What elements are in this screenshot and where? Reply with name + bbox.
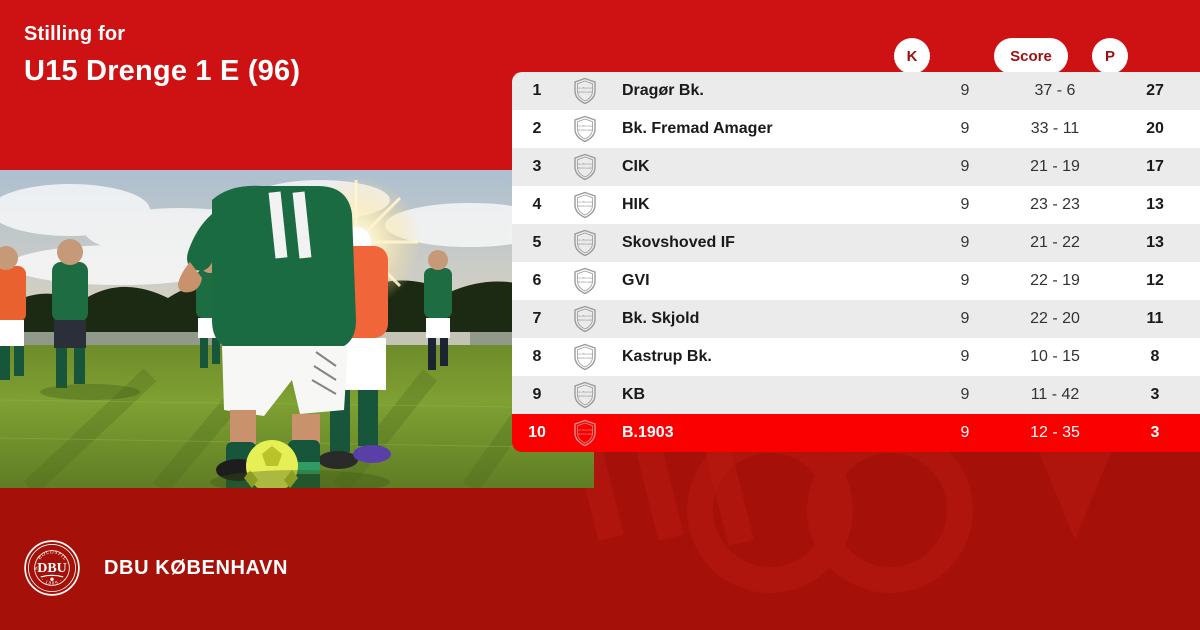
club-name: KB (608, 386, 930, 404)
hero-photo (0, 170, 594, 488)
svg-text:MANGLER: MANGLER (578, 280, 594, 284)
header-text-block: Stilling for U15 Drenge 1 E (96) (24, 22, 300, 89)
club-crest-icon: KLUBLOGOMANGLER (562, 77, 608, 105)
club-crest-icon: KLUBLOGOMANGLER (562, 305, 608, 333)
club-crest-icon: KLUBLOGOMANGLER (562, 381, 608, 409)
club-crest-icon: KLUBLOGOMANGLER (562, 229, 608, 257)
footer: DANSK · BOLDSPIL · UNION · 1889 · DBU DB… (24, 540, 288, 596)
club-crest-icon: KLUBLOGOMANGLER (562, 343, 608, 371)
row-position: 10 (512, 424, 562, 442)
table-row[interactable]: 3KLUBLOGOMANGLERCIK921 - 1917 (512, 148, 1200, 186)
matches-played: 9 (930, 196, 1000, 214)
points: 17 (1110, 158, 1200, 176)
goal-score: 11 - 42 (1000, 386, 1110, 404)
club-name: Skovshoved IF (608, 234, 930, 252)
club-name: CIK (608, 158, 930, 176)
club-name: B.1903 (608, 424, 930, 442)
points: 3 (1110, 386, 1200, 404)
svg-text:MANGLER: MANGLER (578, 318, 594, 322)
club-crest-icon: KLUBLOGOMANGLER (562, 115, 608, 143)
svg-text:MANGLER: MANGLER (578, 432, 594, 436)
points: 11 (1110, 310, 1200, 328)
points: 13 (1110, 234, 1200, 252)
club-crest-icon: KLUBLOGOMANGLER (562, 267, 608, 295)
header-kicker: Stilling for (24, 22, 300, 46)
goal-score: 12 - 35 (1000, 424, 1110, 442)
club-name: GVI (608, 272, 930, 290)
goal-score: 22 - 20 (1000, 310, 1110, 328)
svg-text:MANGLER: MANGLER (578, 204, 594, 208)
matches-played: 9 (930, 158, 1000, 176)
table-row[interactable]: 1KLUBLOGOMANGLERDragør Bk.937 - 627 (512, 72, 1200, 110)
column-header-points: P (1092, 38, 1128, 74)
dbu-logo-icon: DANSK · BOLDSPIL · UNION · 1889 · DBU (24, 540, 80, 596)
column-header-score: Score (994, 38, 1068, 74)
row-position: 9 (512, 386, 562, 404)
table-row[interactable]: 6KLUBLOGOMANGLERGVI922 - 1912 (512, 262, 1200, 300)
points: 12 (1110, 272, 1200, 290)
club-crest-icon: KLUBLOGOMANGLER (562, 419, 608, 447)
standings-table: 1KLUBLOGOMANGLERDragør Bk.937 - 6272KLUB… (512, 72, 1200, 452)
svg-text:MANGLER: MANGLER (578, 356, 594, 360)
goal-score: 22 - 19 (1000, 272, 1110, 290)
club-crest-icon: KLUBLOGOMANGLER (562, 191, 608, 219)
matches-played: 9 (930, 82, 1000, 100)
table-row[interactable]: 7KLUBLOGOMANGLERBk. Skjold922 - 2011 (512, 300, 1200, 338)
row-position: 5 (512, 234, 562, 252)
table-row[interactable]: 10KLUBLOGOMANGLERB.1903912 - 353 (512, 414, 1200, 452)
club-name: Kastrup Bk. (608, 348, 930, 366)
row-position: 3 (512, 158, 562, 176)
svg-text:MANGLER: MANGLER (578, 166, 594, 170)
goal-score: 21 - 19 (1000, 158, 1110, 176)
club-name: Dragør Bk. (608, 82, 930, 100)
row-position: 2 (512, 120, 562, 138)
table-row[interactable]: 5KLUBLOGOMANGLERSkovshoved IF921 - 2213 (512, 224, 1200, 262)
club-name: HIK (608, 196, 930, 214)
goal-score: 10 - 15 (1000, 348, 1110, 366)
svg-text:DBU: DBU (37, 561, 67, 576)
matches-played: 9 (930, 348, 1000, 366)
matches-played: 9 (930, 234, 1000, 252)
club-name: Bk. Skjold (608, 310, 930, 328)
table-row[interactable]: 9KLUBLOGOMANGLERKB911 - 423 (512, 376, 1200, 414)
matches-played: 9 (930, 424, 1000, 442)
matches-played: 9 (930, 310, 1000, 328)
table-row[interactable]: 4KLUBLOGOMANGLERHIK923 - 2313 (512, 186, 1200, 224)
club-name: Bk. Fremad Amager (608, 120, 930, 138)
goal-score: 33 - 11 (1000, 120, 1110, 138)
row-position: 7 (512, 310, 562, 328)
row-position: 8 (512, 348, 562, 366)
svg-text:MANGLER: MANGLER (578, 90, 594, 94)
svg-text:MANGLER: MANGLER (578, 394, 594, 398)
club-crest-icon: KLUBLOGOMANGLER (562, 153, 608, 181)
points: 13 (1110, 196, 1200, 214)
football-match-illustration (0, 170, 594, 488)
goal-score: 37 - 6 (1000, 82, 1110, 100)
watermark-dbu-shapes (560, 430, 1200, 630)
table-row[interactable]: 2KLUBLOGOMANGLERBk. Fremad Amager933 - 1… (512, 110, 1200, 148)
matches-played: 9 (930, 272, 1000, 290)
goal-score: 23 - 23 (1000, 196, 1110, 214)
svg-text:MANGLER: MANGLER (578, 128, 594, 132)
page-title: U15 Drenge 1 E (96) (24, 54, 300, 89)
table-row[interactable]: 8KLUBLOGOMANGLERKastrup Bk.910 - 158 (512, 338, 1200, 376)
points: 8 (1110, 348, 1200, 366)
row-position: 6 (512, 272, 562, 290)
points: 3 (1110, 424, 1200, 442)
column-header-matches: K (894, 38, 930, 74)
matches-played: 9 (930, 386, 1000, 404)
svg-text:MANGLER: MANGLER (578, 242, 594, 246)
points: 27 (1110, 82, 1200, 100)
row-position: 4 (512, 196, 562, 214)
matches-played: 9 (930, 120, 1000, 138)
row-position: 1 (512, 82, 562, 100)
goal-score: 21 - 22 (1000, 234, 1110, 252)
points: 20 (1110, 120, 1200, 138)
footer-label: DBU KØBENHAVN (104, 557, 288, 580)
